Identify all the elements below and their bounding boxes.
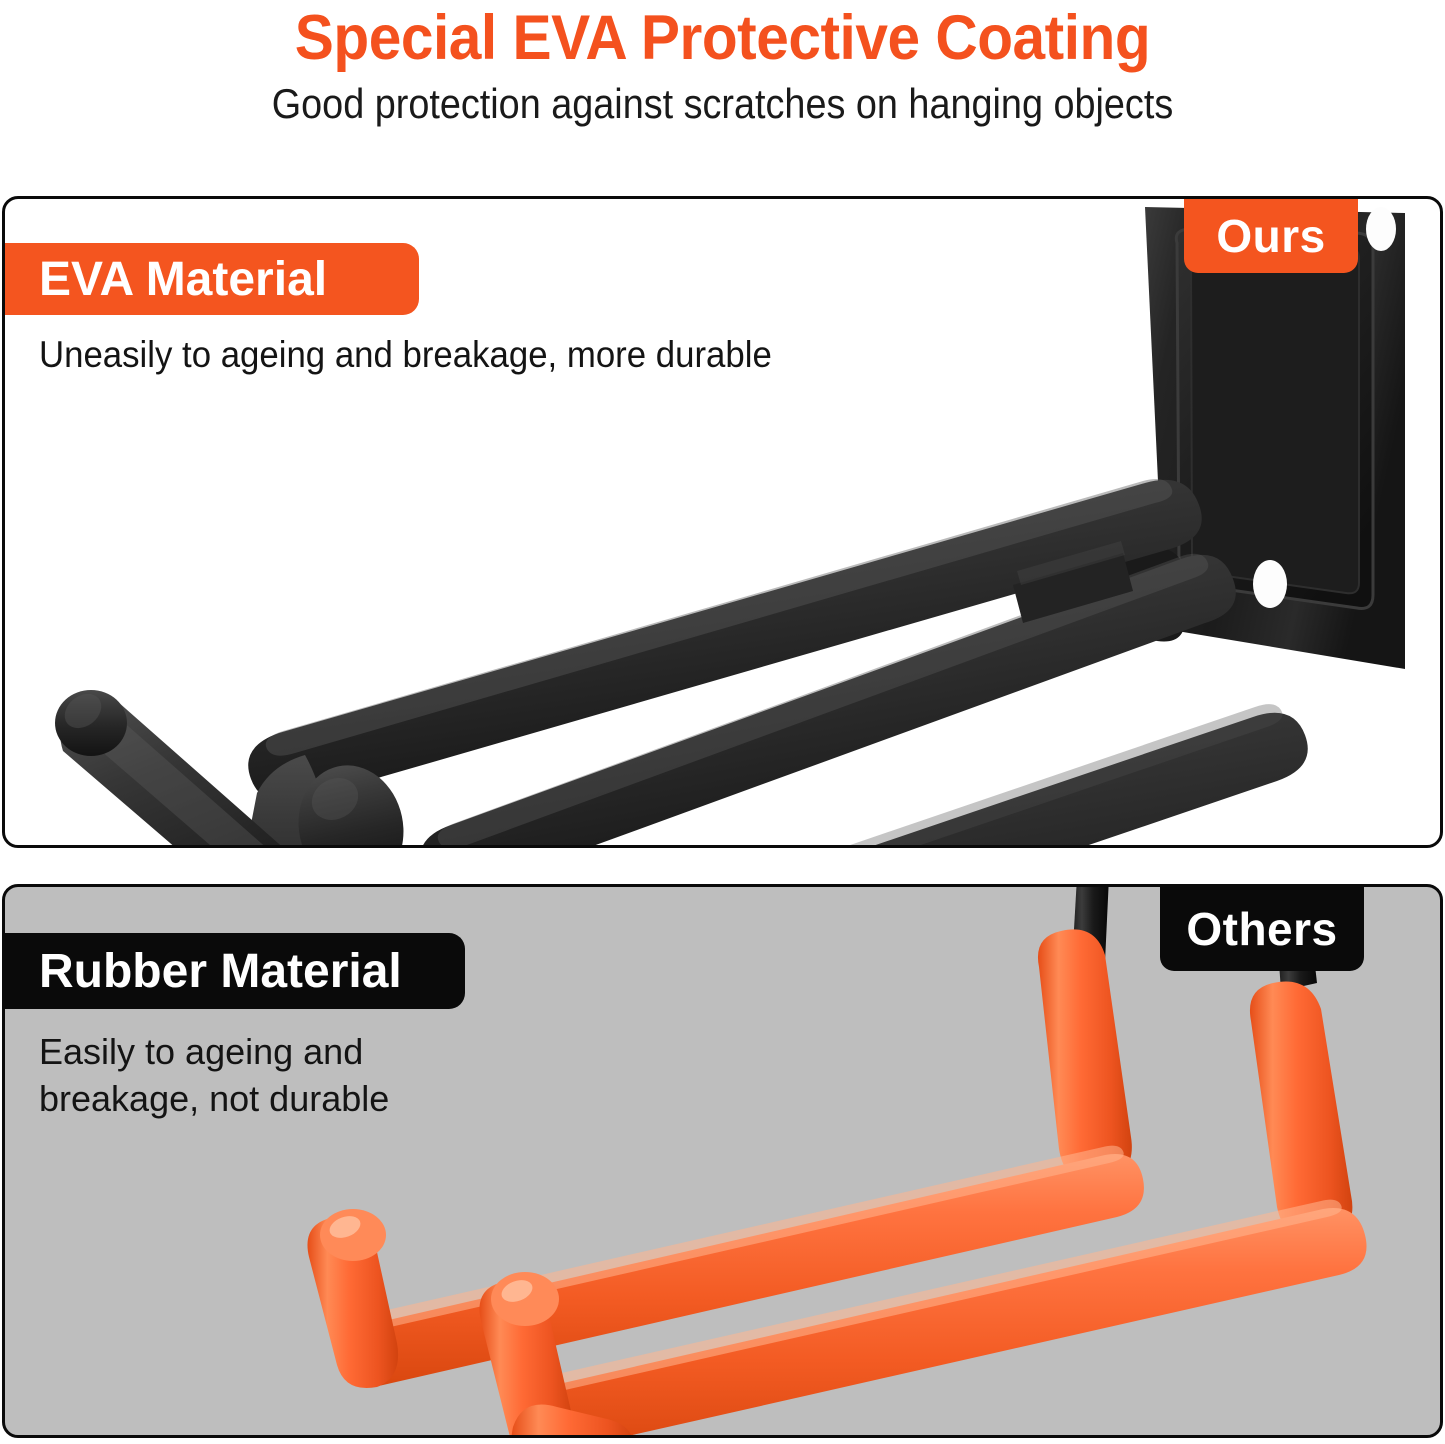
description-ours: Uneasily to ageing and breakage, more du… — [39, 332, 772, 378]
description-others: Easily to ageing and breakage, not durab… — [39, 1028, 389, 1122]
page-subtitle: Good protection against scratches on han… — [72, 79, 1373, 129]
corner-tag-ours: Ours — [1184, 199, 1358, 273]
panel-ours: Ours EVA Material Uneasily to ageing and… — [2, 196, 1443, 848]
panel-others: Others Rubber Material Easily to ageing … — [2, 884, 1443, 1438]
product-comparison-infographic: Special EVA Protective Coating Good prot… — [0, 0, 1445, 1444]
badge-eva-material: EVA Material — [2, 243, 419, 315]
corner-tag-others: Others — [1160, 887, 1364, 971]
header: Special EVA Protective Coating Good prot… — [0, 0, 1445, 160]
page-title: Special EVA Protective Coating — [51, 2, 1395, 74]
badge-rubber-material: Rubber Material — [2, 933, 465, 1009]
